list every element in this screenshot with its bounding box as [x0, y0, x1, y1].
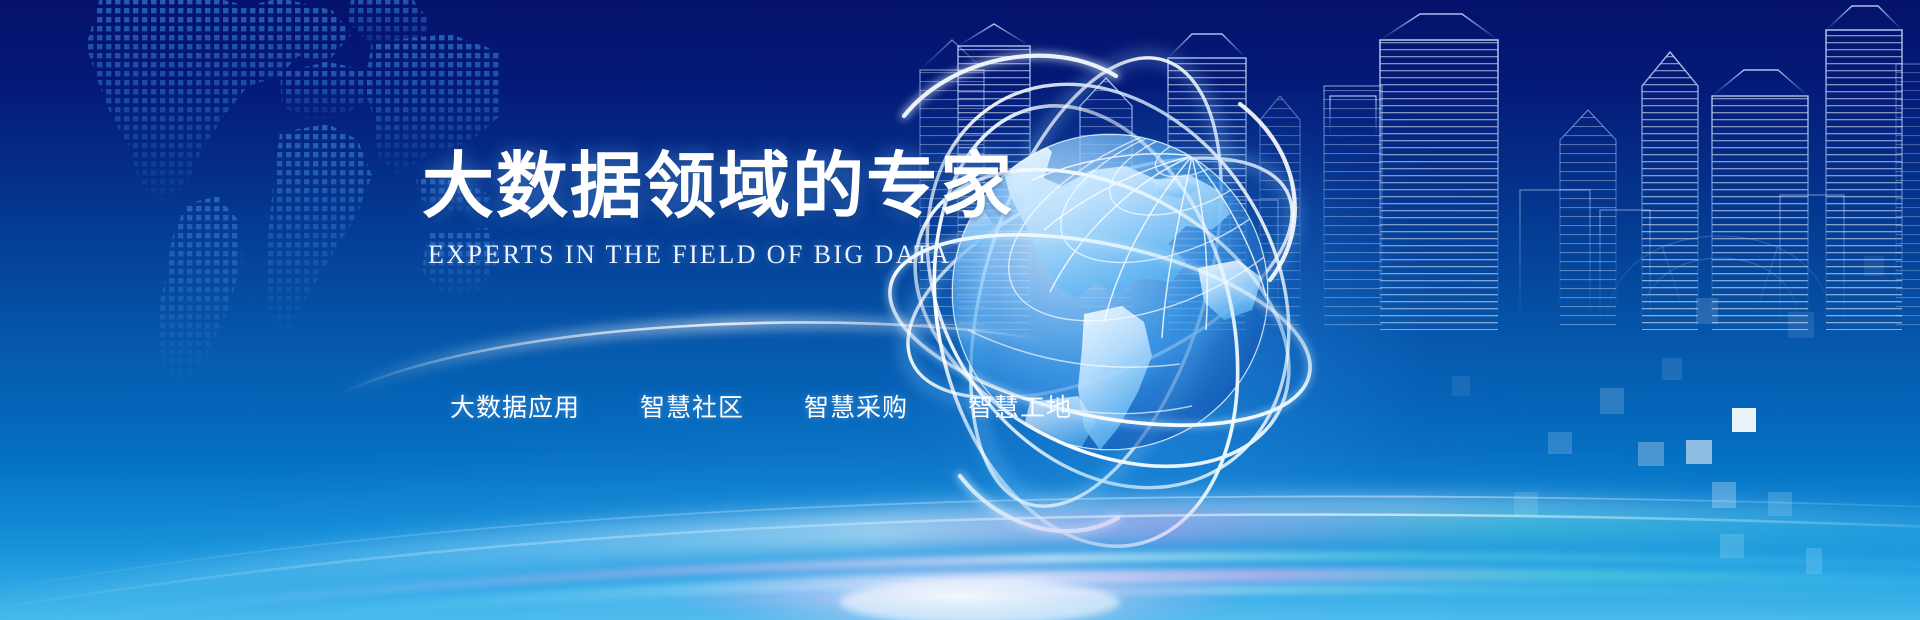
hero-banner: 大数据领域的专家 EXPERTS IN THE FIELD OF BIG DAT…	[0, 0, 1920, 620]
hero-copy: 大数据领域的专家 EXPERTS IN THE FIELD OF BIG DAT…	[422, 150, 1142, 270]
mosaic-squares-graphic	[0, 0, 1920, 620]
nav-item-big-data-application[interactable]: 大数据应用	[450, 388, 580, 424]
category-nav: 大数据应用 智慧社区 智慧采购 智慧工地	[450, 388, 1072, 424]
nav-item-smart-community[interactable]: 智慧社区	[640, 388, 744, 424]
nav-item-smart-procurement[interactable]: 智慧采购	[804, 388, 908, 424]
aurora-ribbon-graphic	[0, 390, 1920, 620]
globe-orbits-graphic	[800, 30, 1360, 550]
nav-item-smart-construction-site[interactable]: 智慧工地	[968, 388, 1072, 424]
page-title: 大数据领域的专家	[422, 150, 1142, 222]
page-subtitle: EXPERTS IN THE FIELD OF BIG DATA	[428, 240, 1142, 270]
